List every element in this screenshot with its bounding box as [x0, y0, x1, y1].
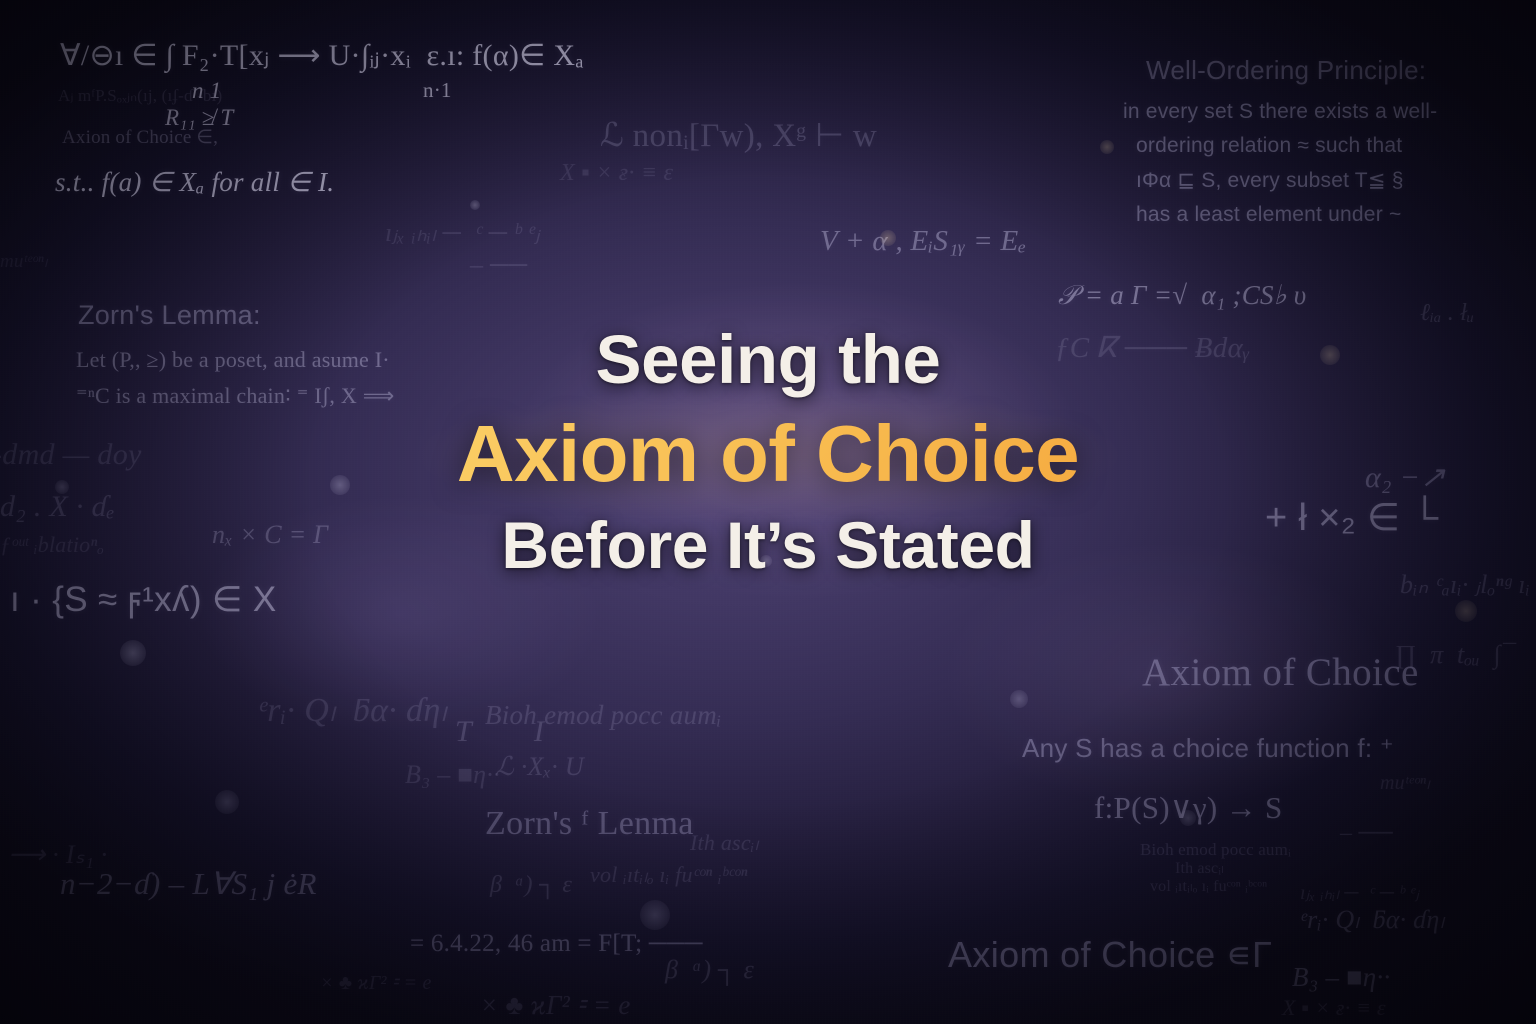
title-block: Seeing the Axiom of Choice Before It’s S… [0, 325, 1536, 578]
title-line-1: Seeing the [0, 325, 1536, 394]
title-card: ∀/⊖ı ∈ ∫ F₂·T[xⱼ ⟶ U·∫ᵢⱼ·xᵢ ε.ı: f(α)∈ X… [0, 0, 1536, 1024]
title-line-2-accent: Axiom of Choice [0, 414, 1536, 494]
title-line-3: Before It’s Stated [0, 512, 1536, 578]
